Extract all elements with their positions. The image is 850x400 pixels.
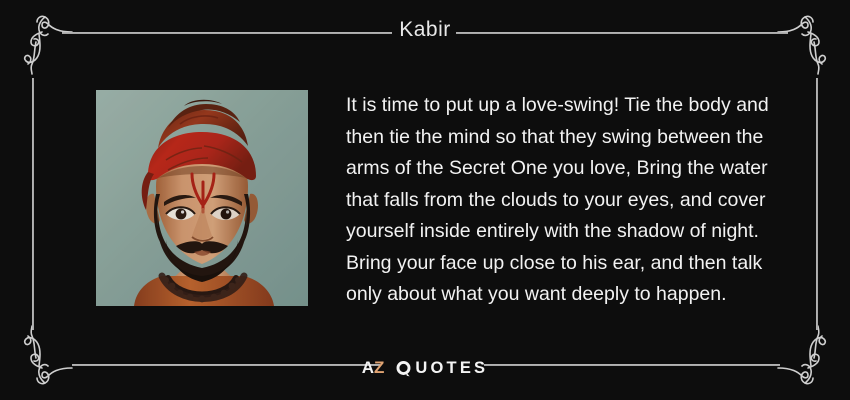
- author-title: Kabir: [0, 18, 850, 42]
- brand-az: AZ: [362, 358, 385, 378]
- quote-card: Kabir: [0, 0, 850, 400]
- brand-letter-a: A: [362, 358, 374, 377]
- brand-letter-z: Z: [374, 358, 384, 377]
- author-portrait-image: [96, 90, 308, 306]
- frame-rule-right: [816, 78, 818, 330]
- quote-text: It is time to put up a love-swing! Tie t…: [346, 90, 778, 311]
- content-row: It is time to put up a love-swing! Tie t…: [96, 90, 790, 311]
- brand-quotes: UOTES: [395, 359, 488, 378]
- speech-bubble-q-icon: [395, 360, 412, 377]
- brand-logo[interactable]: AZ UOTES: [0, 358, 850, 378]
- brand-quotes-text: UOTES: [415, 359, 488, 378]
- frame-rule-left: [32, 78, 34, 330]
